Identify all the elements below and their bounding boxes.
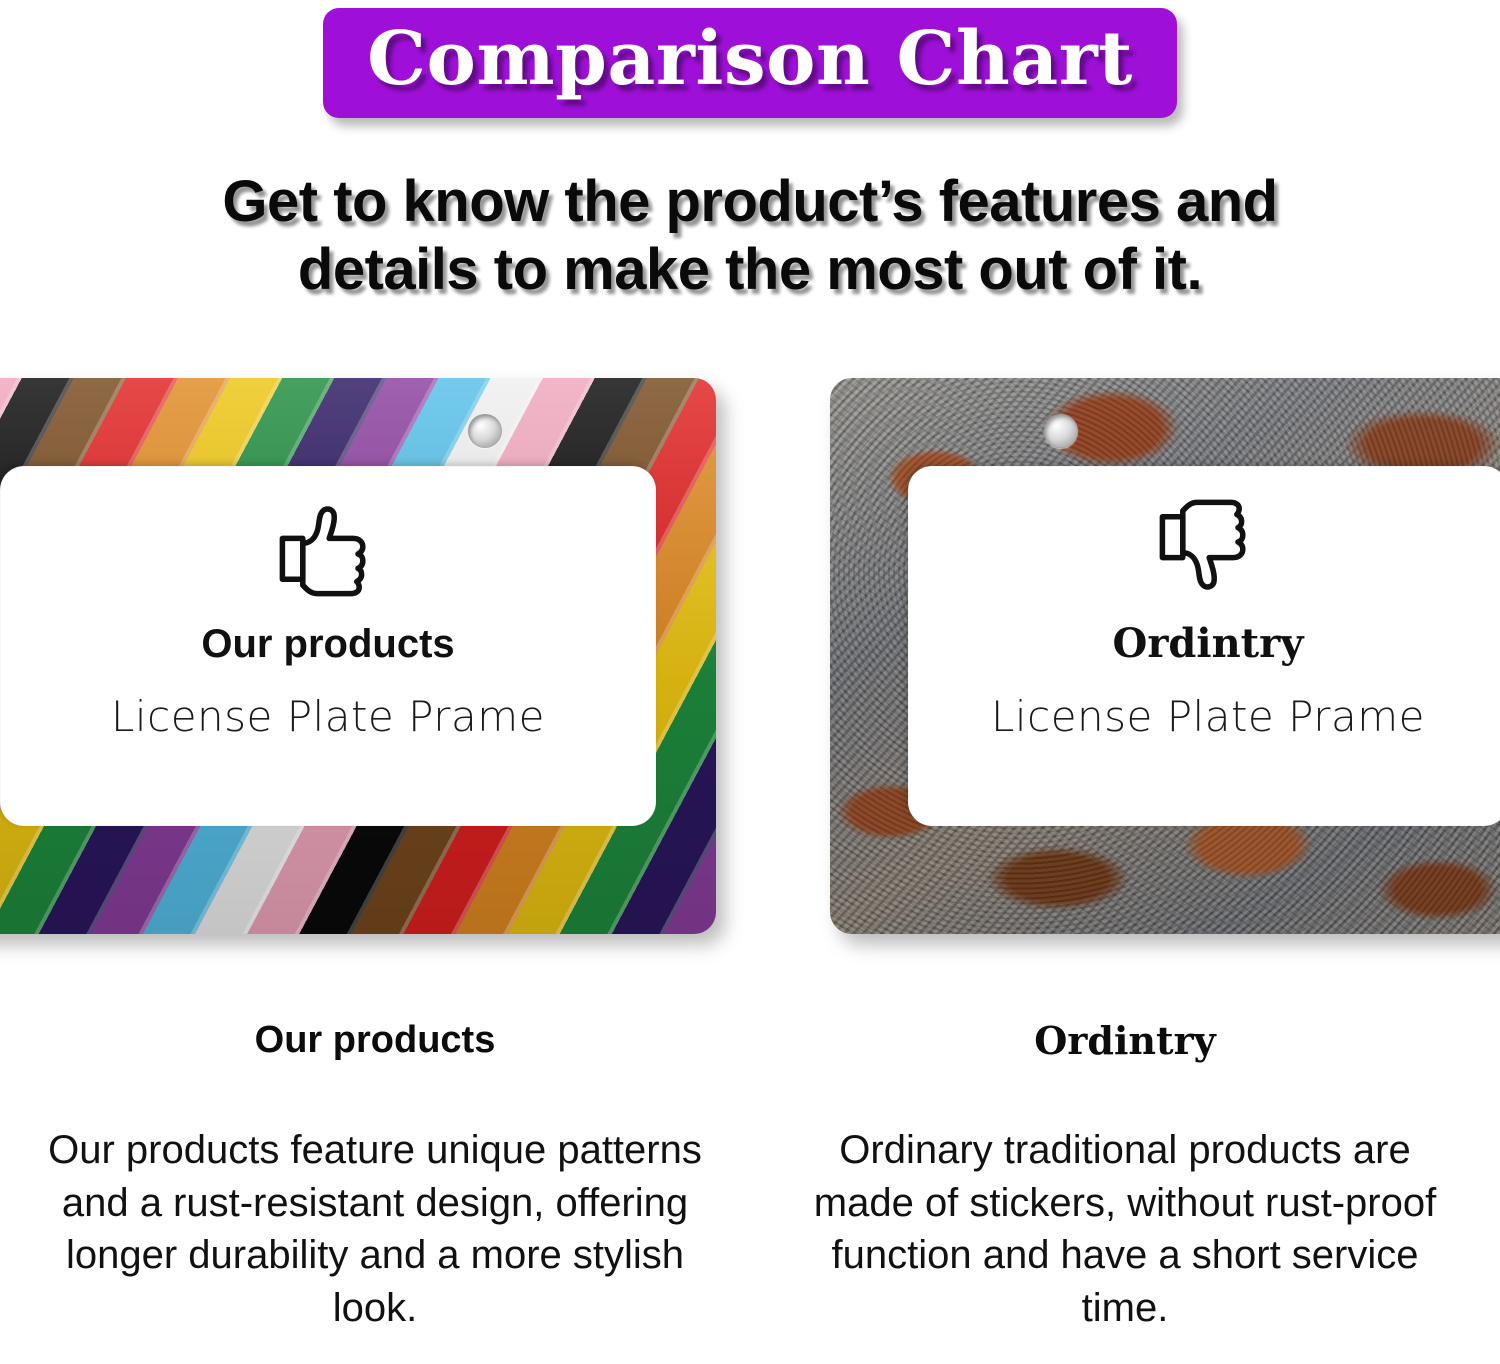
- mounting-hole-icon: [1044, 414, 1078, 448]
- ordinary-product-description-column: Ordintry Ordinary traditional products a…: [750, 1020, 1500, 1364]
- our-product-plate-window: Our products License Plate Prame: [0, 466, 656, 826]
- our-product-description-body: Our products feature unique patterns and…: [34, 1124, 716, 1335]
- subtitle-line-1: Get to know the product’s features and: [0, 168, 1500, 236]
- ordinary-product-frame: Ordintry License Plate Prame: [830, 378, 1500, 934]
- product-frames-row: Our products License Plate Prame Ordintr…: [0, 378, 1500, 934]
- thumbs-down-icon: [1148, 488, 1268, 608]
- our-product-description-column: Our products Our products feature unique…: [0, 1020, 750, 1364]
- our-product-name: License Plate Prame: [111, 692, 545, 741]
- subtitle-line-2: details to make the most out of it.: [0, 236, 1500, 304]
- ordinary-product-description-heading: Ordintry: [784, 1020, 1466, 1062]
- title-banner-wrap: Comparison Chart: [0, 8, 1500, 118]
- page-subtitle: Get to know the product’s features and d…: [0, 168, 1500, 304]
- thumbs-up-icon: [268, 488, 388, 608]
- title-banner: Comparison Chart: [323, 8, 1177, 118]
- ordinary-product-plate-window: Ordintry License Plate Prame: [908, 466, 1500, 826]
- ordinary-product-brand: Ordintry: [1113, 622, 1304, 666]
- our-product-description-heading: Our products: [34, 1020, 716, 1062]
- our-product-frame: Our products License Plate Prame: [0, 378, 716, 934]
- mounting-hole-icon: [468, 414, 502, 448]
- page-title: Comparison Chart: [367, 14, 1133, 104]
- ordinary-product-description-body: Ordinary traditional products are made o…: [784, 1124, 1466, 1335]
- our-product-brand: Our products: [201, 622, 454, 666]
- comparison-description-row: Our products Our products feature unique…: [0, 1020, 1500, 1364]
- ordinary-product-name: License Plate Prame: [991, 692, 1425, 741]
